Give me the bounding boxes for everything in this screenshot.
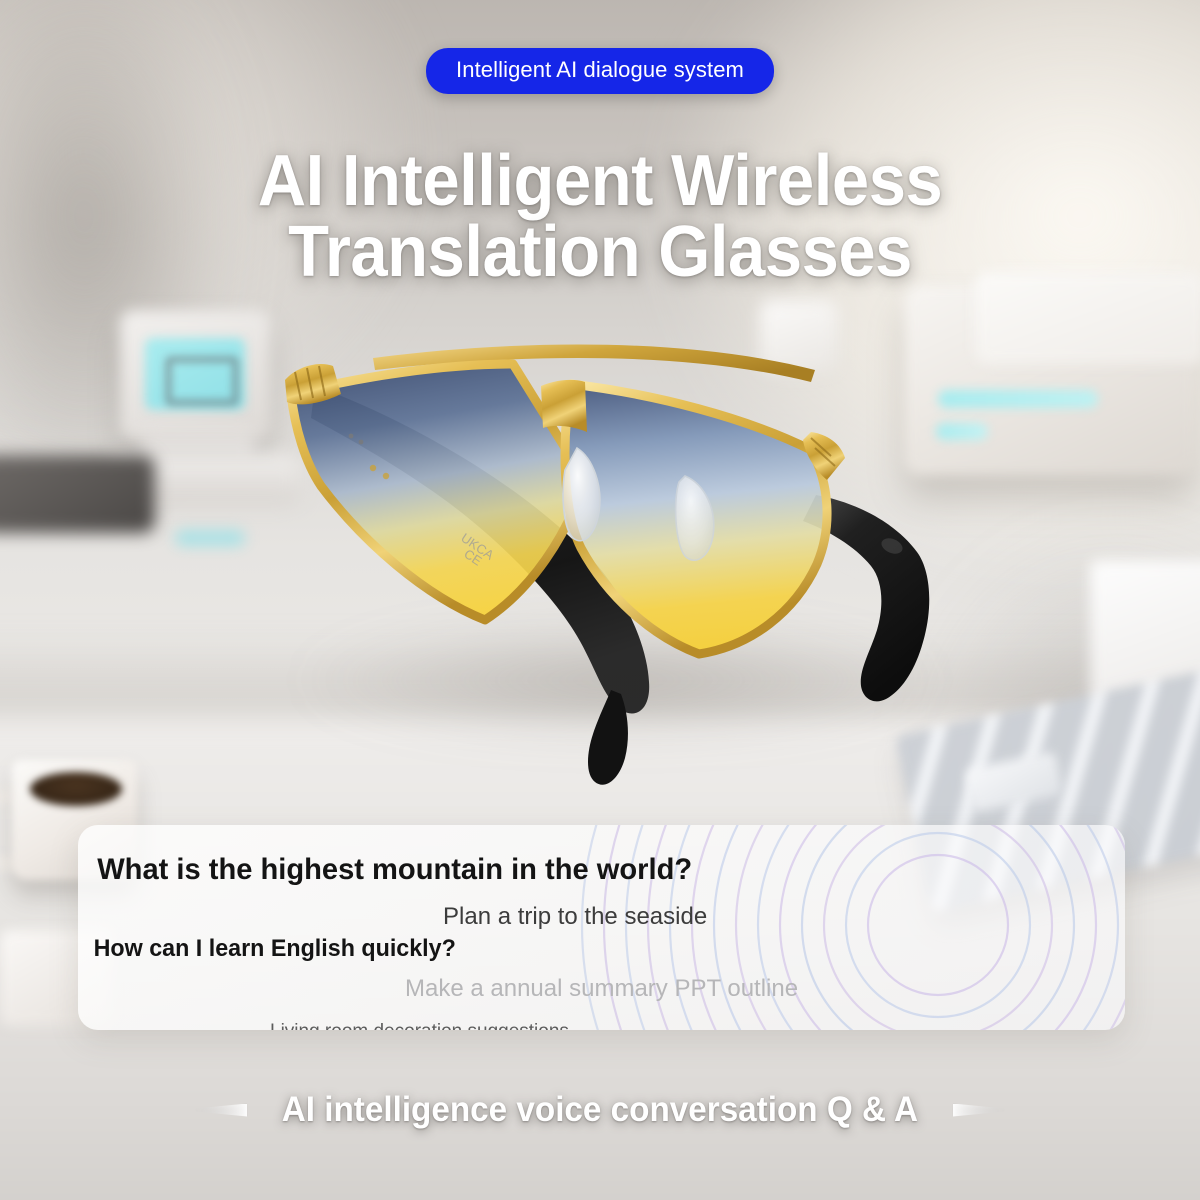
prompt-text-2: Plan a trip to the seaside	[443, 903, 707, 931]
dash-right-icon	[953, 1104, 1005, 1117]
hero-product-image: UKCA CE	[255, 290, 955, 710]
prompt-text-4: Make a annual summary PPT outline	[405, 975, 798, 1003]
cyan-glow-chip-icon	[175, 530, 245, 546]
title-line-2: Translation Glasses	[42, 217, 1158, 288]
qa-card-inner: What is the highest mountain in the worl…	[78, 825, 1125, 1030]
tagline-text: AI intelligence voice conversation Q & A	[282, 1090, 918, 1130]
product-poster: Intelligent AI dialogue system AI Intell…	[0, 0, 1200, 1200]
qa-card: What is the highest mountain in the worl…	[78, 825, 1125, 1030]
badge-pill: Intelligent AI dialogue system	[426, 48, 774, 94]
hero-glasses-icon: UKCA CE	[255, 290, 955, 710]
prompt-text-5: Living room decoration suggestions	[270, 1021, 569, 1030]
device-led-bar-icon	[938, 390, 1098, 408]
dash-left-icon	[195, 1104, 247, 1117]
bridge-icon	[541, 380, 587, 432]
title-line-1: AI Intelligent Wireless	[258, 141, 943, 221]
page-title: AI Intelligent Wireless Translation Glas…	[42, 146, 1158, 287]
prompt-text-1: What is the highest mountain in the worl…	[97, 853, 692, 887]
monitor-glyph-icon	[165, 356, 239, 406]
tagline-row: AI intelligence voice conversation Q & A	[0, 1082, 1200, 1138]
prompt-text-3: How can I learn English quickly?	[94, 935, 456, 963]
coffee-surface-icon	[30, 772, 122, 806]
tablet-icon	[0, 455, 155, 533]
